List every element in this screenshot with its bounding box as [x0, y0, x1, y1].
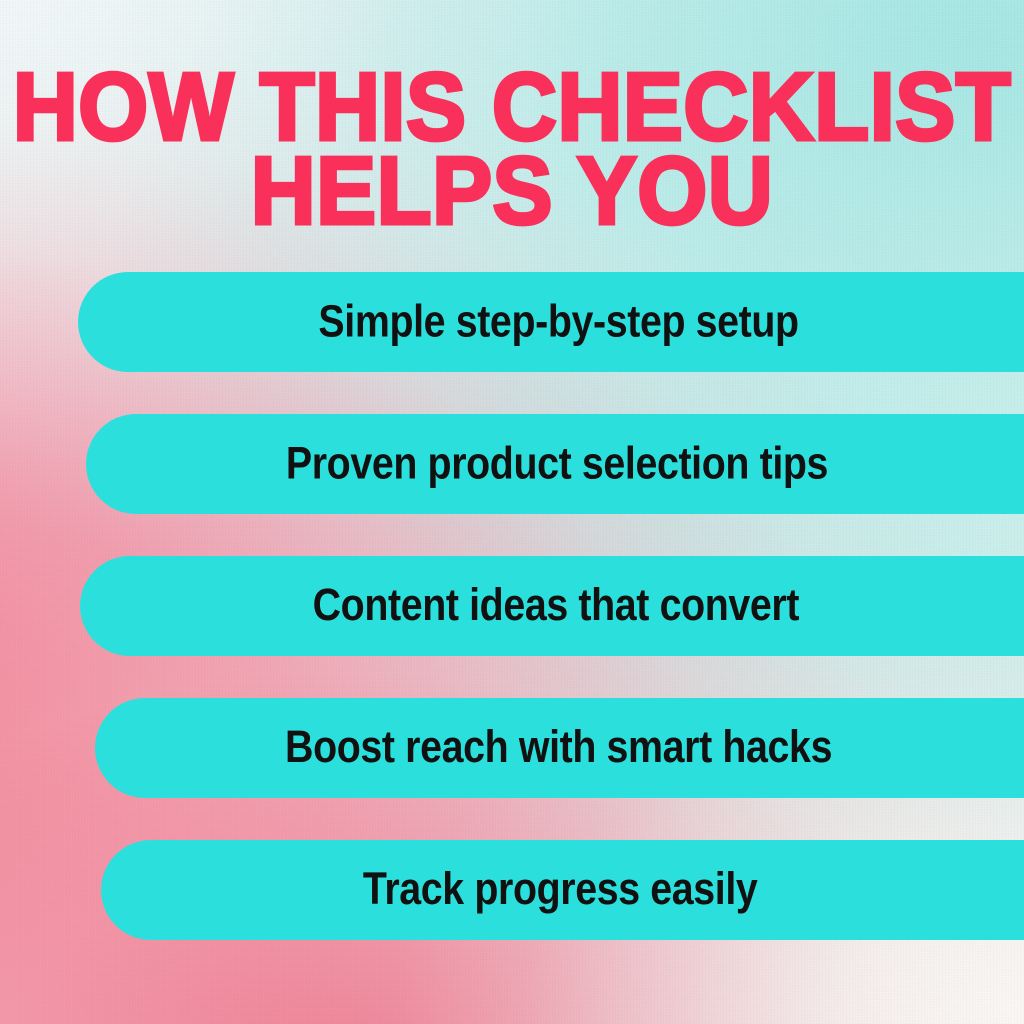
page-title: HOW THIS CHECKLIST HELPS YOU	[0, 63, 1024, 225]
poster-canvas: HOW THIS CHECKLIST HELPS YOU Simple step…	[0, 0, 1024, 1024]
checklist-item-2[interactable]: Proven product selection tips	[86, 414, 1024, 514]
checklist-item-4[interactable]: Boost reach with smart hacks	[95, 698, 1024, 798]
checklist-item-2-label: Proven product selection tips	[285, 440, 827, 487]
checklist-item-3[interactable]: Content ideas that convert	[80, 556, 1024, 656]
checklist-item-1-label: Simple step-by-step setup	[318, 298, 798, 345]
headline-line-2: HELPS YOU	[0, 147, 1024, 235]
checklist-item-4-label: Boost reach with smart hacks	[285, 724, 832, 771]
checklist-item-5[interactable]: Track progress easily	[101, 840, 1024, 940]
checklist-item-1[interactable]: Simple step-by-step setup	[78, 272, 1024, 372]
checklist-item-3-label: Content ideas that convert	[312, 582, 798, 629]
checklist-item-5-label: Track progress easily	[363, 866, 758, 913]
checklist-benefits-list: Simple step-by-step setup Proven product…	[0, 272, 1024, 940]
